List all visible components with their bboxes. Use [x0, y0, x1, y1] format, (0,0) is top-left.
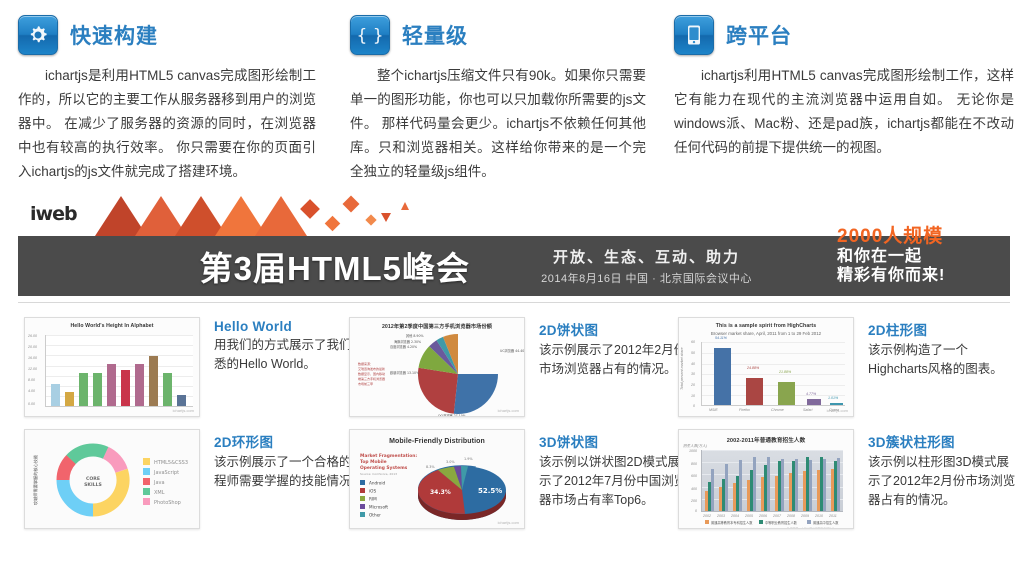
- banner-date-venue: 2014年8月16日 中国 · 北京国际会议中心: [541, 270, 752, 286]
- svg-text:Android: Android: [369, 481, 386, 486]
- svg-text:UC浏览器 44.40%: UC浏览器 44.40%: [500, 348, 525, 353]
- svg-text:34.3%: 34.3%: [430, 489, 451, 496]
- banner-title: 第3届HTML5峰会: [18, 236, 488, 296]
- svg-text:XML: XML: [154, 490, 165, 496]
- banner-decor-triangles: [95, 192, 425, 236]
- svg-text:SKILLS: SKILLS: [84, 482, 102, 488]
- chart-watermark: ichartjs.com: [827, 408, 848, 413]
- gallery-item-2d-column[interactable]: This is a sample spirit from HighCharts …: [666, 311, 1012, 423]
- thumbnail-hello-world-bar-chart[interactable]: Hello World's Height In Alphabet 26.00 2…: [24, 317, 200, 417]
- chart-subtitle: Browser market share, April, 2011 from 1…: [679, 331, 853, 336]
- svg-text:Market Fragmentation:: Market Fragmentation:: [360, 453, 417, 459]
- svg-text:RIM: RIM: [369, 497, 377, 502]
- donut-svg: 攻城师需要掌握的核心技能 CORE SKILLS HTML5&CSS3 Java…: [25, 430, 200, 529]
- banner-slogan-block: 开放、生态、互动、助力 2014年8月16日 中国 · 北京国际会议中心: [488, 236, 835, 296]
- pie-svg: UC浏览器 44.40% QQ浏览器 27.10% 欧朋浏览器 13.10% 百…: [350, 318, 525, 417]
- svg-text:数据显示，国内移动: 数据显示，国内移动: [358, 371, 385, 376]
- feature-card-cross-platform: 跨平台 ichartjs利用HTML5 canvas完成图形绘制工作，这样它有能…: [660, 10, 1028, 184]
- svg-text:其他 8.90%: 其他 8.90%: [406, 333, 424, 338]
- gallery-item-2d-donut[interactable]: 攻城师需要掌握的核心技能 CORE SKILLS HTML5&CSS3 Java…: [0, 423, 333, 535]
- feature-title: 轻量级: [402, 20, 468, 50]
- donut-legend: HTML5&CSS3 JavaScript Java XML PhotoShop: [143, 458, 188, 506]
- feature-description: 整个ichartjs压缩文件只有90k。如果你只需要单一的图形功能，你也可以只加…: [350, 64, 646, 184]
- svg-text:HTML5&CSS3: HTML5&CSS3: [154, 460, 188, 466]
- gallery-item-2d-pie[interactable]: 2012年第2季度中国第三方手机浏览器市场份额 UC浏览器 44.40% QQ浏…: [333, 311, 666, 423]
- gallery-caption: 2D柱形图 该示例构造了一个Highcharts风格的图表。: [854, 317, 1018, 379]
- svg-text:海豚浏览器 2.30%: 海豚浏览器 2.30%: [394, 339, 421, 344]
- svg-text:普通高中招生人数: 普通高中招生人数: [813, 520, 839, 525]
- donut-axis-label: 攻城师需要掌握的核心技能: [32, 454, 39, 505]
- chart-title: Hello World's Height In Alphabet: [25, 323, 199, 329]
- svg-text:8.3%: 8.3%: [426, 465, 435, 469]
- gallery-item-desc: 该示例以柱形图3D模式展示了2012年2月份市场浏览器占有的情况。: [868, 453, 1018, 510]
- conference-banner-wrap: iweb 第3届HTML5峰会 开放、生态、互动、助力 2014年8月16日 中…: [0, 184, 1028, 296]
- feature-header: 快速构建: [18, 10, 316, 60]
- pie3d-svg: Market Fragmentation: Top Mobile Operati…: [350, 430, 525, 529]
- svg-text:PhotoShop: PhotoShop: [154, 500, 181, 506]
- chart-legend: 普通高等教育本专科招生人数 中等职业教育招生人数 普通高中招生人数 数据来源：中…: [679, 518, 854, 529]
- banner-bar: 第3届HTML5峰会 开放、生态、互动、助力 2014年8月16日 中国 · 北…: [18, 236, 1010, 296]
- svg-text:Other: Other: [369, 513, 381, 518]
- feature-card-lightweight: { } 轻量级 整个ichartjs压缩文件只有90k。如果你只需要单一的图形功…: [330, 10, 660, 184]
- chart-source: Source: ComScore, 2013: [360, 472, 397, 476]
- svg-text:Microsoft: Microsoft: [369, 505, 388, 510]
- svg-text:iOS: iOS: [369, 489, 376, 494]
- svg-text:52.5%: 52.5%: [478, 487, 502, 495]
- example-gallery: Hello World's Height In Alphabet 26.00 2…: [0, 303, 1028, 535]
- pie3d-legend: Android iOS RIM Microsoft Other: [360, 480, 388, 518]
- feature-title: 跨平台: [726, 20, 792, 50]
- svg-text:中等职业教育招生人数: 中等职业教育招生人数: [765, 520, 798, 525]
- gear-icon: [18, 15, 58, 55]
- banner-line-3: 精彩有你而来!: [837, 266, 1010, 285]
- gallery-caption: 3D簇状柱形图 该示例以柱形图3D模式展示了2012年2月份市场浏览器占有的情况…: [854, 429, 1018, 510]
- svg-text:Operating Systems: Operating Systems: [360, 465, 408, 471]
- feature-row: 快速构建 ichartjs是利用HTML5 canvas完成图形绘制工作的，所以…: [0, 0, 1028, 184]
- svg-text:数据来源：: 数据来源：: [358, 361, 373, 366]
- thumbnail-2d-pie-chart[interactable]: 2012年第2季度中国第三方手机浏览器市场份额 UC浏览器 44.40% QQ浏…: [349, 317, 525, 417]
- svg-text:百度浏览器 4.20%: 百度浏览器 4.20%: [390, 344, 417, 349]
- svg-text:{ }: { }: [357, 26, 383, 46]
- gallery-caption: 3D饼状图 该示例以饼状图2D模式展示了2012年7月份中国浏览器市场占有率To…: [525, 429, 689, 510]
- chart-watermark: ichartjs.com: [173, 408, 194, 413]
- svg-text:Top Mobile: Top Mobile: [360, 459, 387, 465]
- gallery-item-hello-world[interactable]: Hello World's Height In Alphabet 26.00 2…: [0, 311, 333, 423]
- thumbnail-2d-donut-chart[interactable]: 攻城师需要掌握的核心技能 CORE SKILLS HTML5&CSS3 Java…: [24, 429, 200, 529]
- thumbnail-3d-clustered-column-chart[interactable]: 2002-2011年普通教育招生人数 招生人数(万人): [678, 429, 854, 529]
- banner-scale-block: 2000人规模 和你在一起 精彩有你而来!: [835, 236, 1010, 296]
- gallery-item-desc: 该示例构造了一个Highcharts风格的图表。: [868, 341, 1018, 379]
- feature-description: ichartjs利用HTML5 canvas完成图形绘制工作，这样它有能力在现代…: [674, 64, 1014, 160]
- chart-title: This is a sample spirit from HighCharts: [679, 323, 853, 329]
- banner-scale: 2000人规模: [837, 227, 1010, 247]
- gallery-item-title[interactable]: 3D簇状柱形图: [868, 431, 1018, 451]
- gallery-caption: 2D饼状图 该示例展示了2012年2月份市场浏览器占有的情况。: [525, 317, 689, 379]
- banner-slogan: 开放、生态、互动、助力: [553, 246, 740, 267]
- conference-banner[interactable]: iweb 第3届HTML5峰会 开放、生态、互动、助力 2014年8月16日 中…: [18, 192, 1010, 296]
- svg-text:QQ浏览器 27.10%: QQ浏览器 27.10%: [438, 413, 466, 417]
- svg-text:3.0%: 3.0%: [446, 460, 455, 464]
- svg-text:普通高等教育本专科招生人数: 普通高等教育本专科招生人数: [711, 520, 753, 525]
- thumbnail-3d-pie-chart[interactable]: Mobile-Friendly Distribution Market Frag…: [349, 429, 525, 529]
- svg-text:JavaScript: JavaScript: [153, 470, 179, 476]
- svg-text:Java: Java: [153, 480, 165, 486]
- feature-description: ichartjs是利用HTML5 canvas完成图形绘制工作的，所以它的主要工…: [18, 64, 316, 184]
- chart-watermark: ichartjs.com: [498, 408, 519, 413]
- svg-text:市场前三甲: 市场前三甲: [358, 381, 373, 386]
- gallery-item-title[interactable]: 2D柱形图: [868, 319, 1018, 339]
- iweb-logo: iweb: [30, 203, 77, 225]
- svg-text:1.9%: 1.9%: [464, 457, 473, 461]
- gallery-item-3d-clustered-column[interactable]: 2002-2011年普通教育招生人数 招生人数(万人): [666, 423, 1012, 535]
- feature-title: 快速构建: [70, 20, 158, 50]
- svg-text:端第三方手机浏览器: 端第三方手机浏览器: [358, 376, 385, 381]
- svg-text:数据来源：中华人民共和国教育部统计: 数据来源：中华人民共和国教育部统计: [787, 527, 835, 529]
- thumbnail-2d-column-chart[interactable]: This is a sample spirit from HighCharts …: [678, 317, 854, 417]
- feature-header: 跨平台: [674, 10, 1014, 60]
- banner-line-2: 和你在一起: [837, 247, 1010, 266]
- svg-text:艾瑞咨询发布的最新: 艾瑞咨询发布的最新: [358, 366, 385, 371]
- svg-text:CORE: CORE: [86, 476, 100, 482]
- feature-header: { } 轻量级: [350, 10, 646, 60]
- gallery-item-3d-pie[interactable]: Mobile-Friendly Distribution Market Frag…: [333, 423, 666, 535]
- tablet-icon: [674, 15, 714, 55]
- feature-card-fast-build: 快速构建 ichartjs是利用HTML5 canvas完成图形绘制工作的，所以…: [0, 10, 330, 184]
- chart-watermark: ichartjs.com: [498, 520, 519, 525]
- chart-title: 2002-2011年普通教育招生人数: [679, 436, 853, 444]
- svg-text:欧朋浏览器 13.10%: 欧朋浏览器 13.10%: [390, 370, 419, 375]
- curly-braces-icon: { }: [350, 15, 390, 55]
